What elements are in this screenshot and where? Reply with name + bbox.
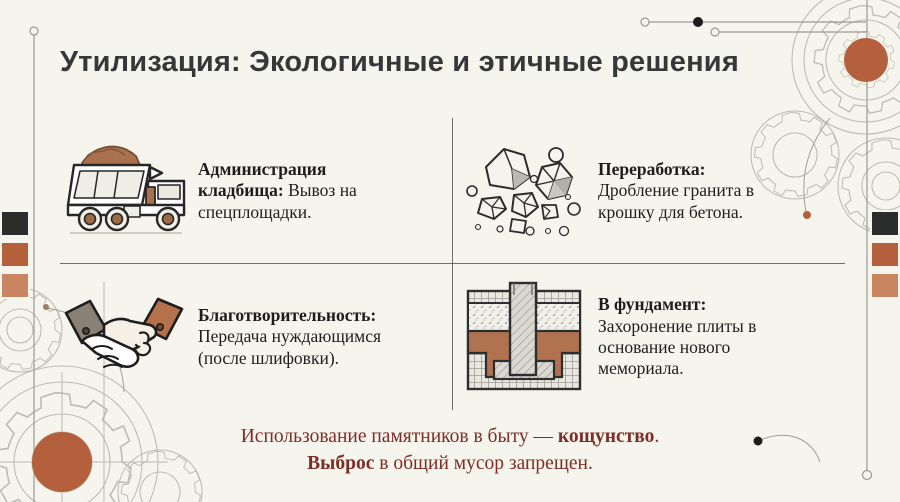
footer-line2-part2: в общий мусор запрещен. — [374, 453, 592, 474]
footer-warning: Использование памятников в быту — кощунс… — [0, 424, 900, 478]
content-grid: Администрация кладбища: Вывоз на спецпло… — [60, 118, 845, 410]
slide-canvas: Утилизация: Экологичные и этичные решени… — [0, 0, 900, 502]
footer-line1-part1: Использование памятников в быту — — [241, 426, 558, 447]
color-swatch-strip-left — [0, 210, 30, 303]
cell-foundation: В фундамент: Захоронение плиты в основан… — [452, 264, 845, 410]
swatch-dark — [870, 210, 900, 237]
cell-text: Переработка: Дробление гранита в крошку … — [598, 159, 803, 223]
cell-text: Администрация кладбища: Вывоз на спецпло… — [198, 159, 388, 223]
footer-line1-part2: . — [654, 426, 659, 447]
footer-line1-emphasis: кощунство — [558, 426, 655, 447]
swatch-tan — [0, 272, 30, 299]
cell-heading: В фундамент: — [598, 294, 706, 314]
cell-text: В фундамент: Захоронение плиты в основан… — [598, 294, 803, 379]
swatch-rust — [0, 241, 30, 268]
cell-heading: Переработка: — [598, 159, 705, 179]
footer-line-2: Выброс в общий мусор запрещен. — [0, 451, 900, 478]
cell-text: Благотворительность: Передача нуждающимс… — [198, 305, 413, 369]
cell-administration: Администрация кладбища: Вывоз на спецпло… — [60, 118, 452, 264]
cell-charity: Благотворительность: Передача нуждающимс… — [60, 264, 452, 410]
swatch-dark — [0, 210, 30, 237]
swatch-rust — [870, 241, 900, 268]
swatch-tan — [870, 272, 900, 299]
cell-body: Дробление гранита в крошку для бетона. — [598, 180, 754, 221]
handshake-icon — [60, 281, 188, 393]
foundation-cross-section-icon — [460, 281, 588, 393]
footer-line2-emphasis: Выброс — [307, 453, 374, 474]
cell-body: Захоронение плиты в основание нового мем… — [598, 316, 756, 379]
dump-truck-icon — [60, 135, 188, 247]
crushed-rocks-icon — [460, 135, 588, 247]
footer-line-1: Использование памятников в быту — кощунс… — [0, 424, 900, 451]
cell-heading: Благотворительность: — [198, 305, 376, 325]
slide-title: Утилизация: Экологичные и этичные решени… — [60, 46, 739, 79]
color-swatch-strip-right — [870, 210, 900, 303]
cell-recycling: Переработка: Дробление гранита в крошку … — [452, 118, 845, 264]
cell-body: Передача нуждающимся (после шлифовки). — [198, 326, 381, 367]
